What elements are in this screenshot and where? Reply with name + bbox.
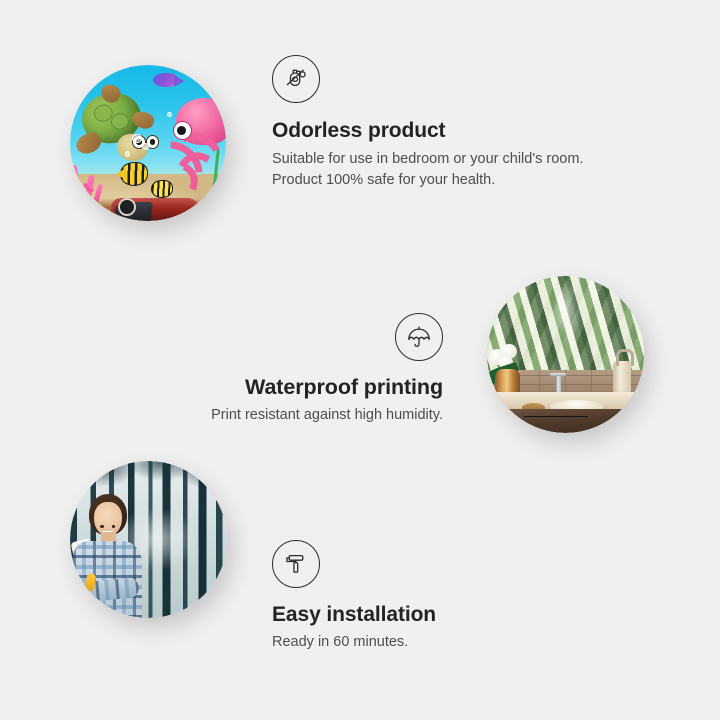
woman-eye-shape: [100, 525, 104, 528]
feature-description: Suitable for use in bedroom or your chil…: [272, 149, 612, 191]
feature-installation: Easy installation Ready in 60 minutes.: [272, 540, 572, 653]
bubble-shape: [125, 151, 131, 157]
feature-odorless: Odorless product Suitable for use in bed…: [272, 55, 612, 191]
yellow-striped-fish-shape: [120, 162, 149, 186]
bubble-shape: [167, 112, 172, 117]
underwater-cartoon-scene-photo: [70, 65, 226, 221]
feature-description: Print resistant against high humidity.: [143, 405, 443, 426]
octopus-eye-shape: [173, 121, 192, 140]
paint-roller-icon: [272, 540, 320, 588]
bathroom-artwork: [487, 276, 644, 433]
feature-title: Easy installation: [272, 603, 572, 627]
feature-title: Waterproof printing: [143, 375, 443, 400]
forest-wallpaper-installer-photo: [70, 461, 227, 618]
woman-eye-shape: [112, 525, 116, 528]
shipwreck-porthole-shape: [118, 198, 136, 216]
feature-waterproof: Waterproof printing Print resistant agai…: [143, 313, 443, 426]
feature-title: Odorless product: [272, 119, 612, 143]
blue-fish-shape: [153, 73, 178, 87]
wood-vanity-cabinet-shape: [506, 409, 644, 433]
underwater-artwork: [70, 65, 226, 221]
forest-artwork: [70, 461, 227, 618]
features-page: Odorless product Suitable for use in bed…: [0, 0, 720, 720]
no-odor-perfume-bottle-icon: [272, 55, 320, 103]
umbrella-icon: [395, 313, 443, 361]
bathroom-tropical-wallpaper-photo: [487, 276, 644, 433]
bubble-shape: [142, 143, 149, 150]
feature-description: Ready in 60 minutes.: [272, 632, 572, 653]
